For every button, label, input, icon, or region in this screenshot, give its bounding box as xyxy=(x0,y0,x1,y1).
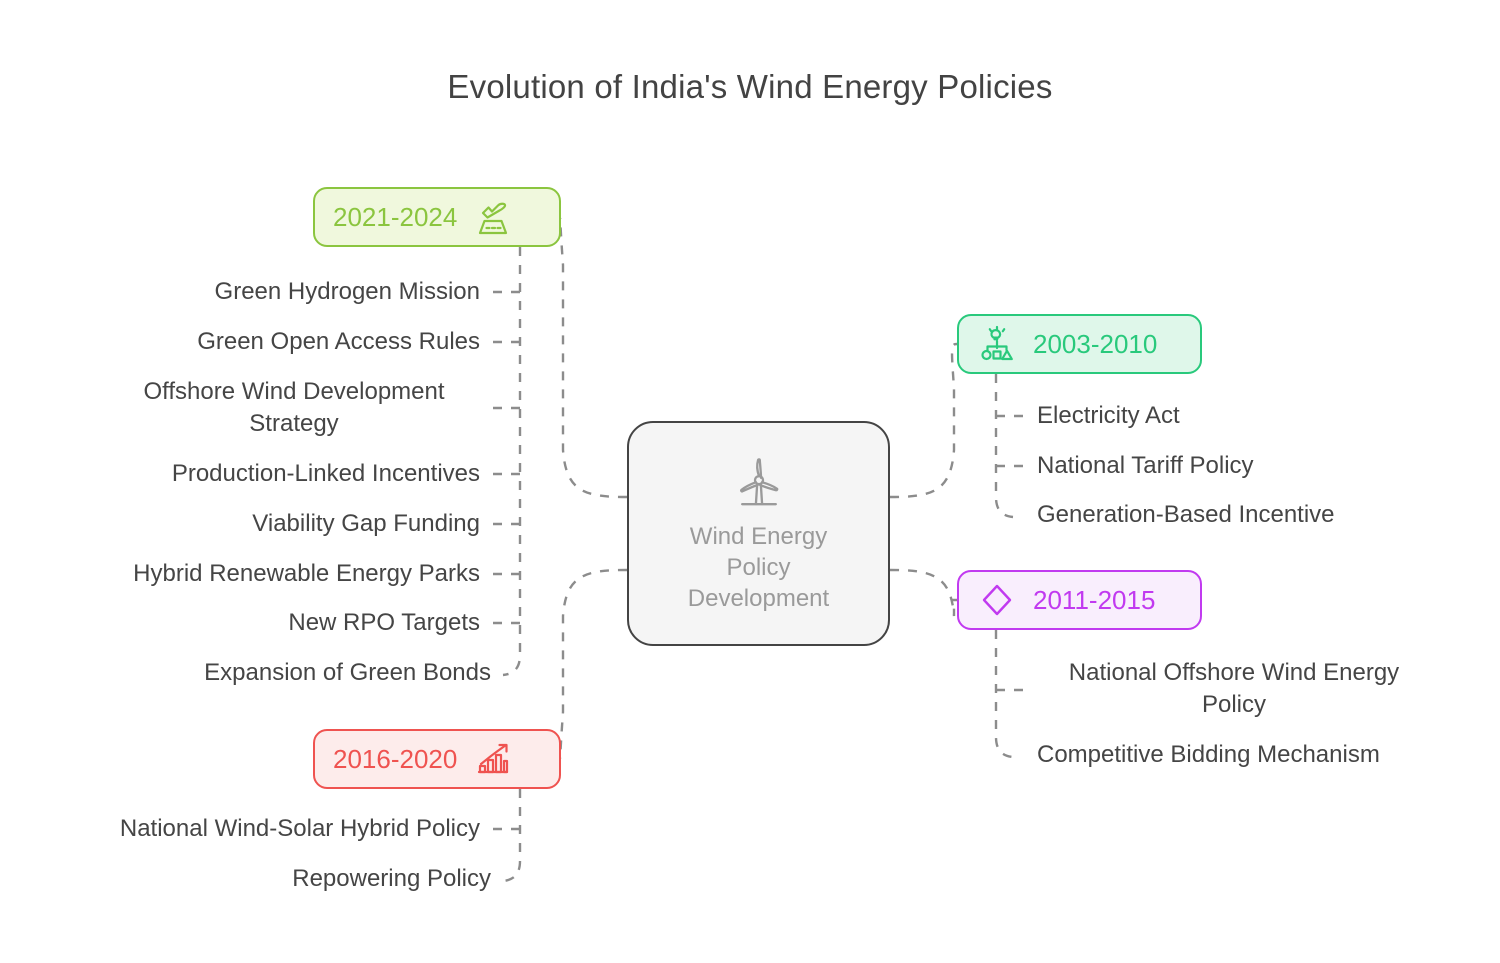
leaf-green-hydrogen-mission: Green Hydrogen Mission xyxy=(215,276,480,308)
leaf-new-rpo-targets: New RPO Targets xyxy=(288,607,480,639)
wind-turbine-icon xyxy=(728,453,790,515)
leaf-viability-gap-funding: Viability Gap Funding xyxy=(252,508,480,540)
page-title: Evolution of India's Wind Energy Policie… xyxy=(0,68,1500,106)
leaf-electricity-act: Electricity Act xyxy=(1037,400,1180,432)
leaf-expansion-of-green-bonds: Expansion of Green Bonds xyxy=(204,657,491,689)
branch-node-2016-2020[interactable]: 2016-2020 xyxy=(313,729,561,789)
branch-label-2021-2024: 2021-2024 xyxy=(333,202,457,233)
leaf-green-open-access-rules: Green Open Access Rules xyxy=(197,326,480,358)
leaf-production-linked-incentives: Production-Linked Incentives xyxy=(172,458,480,490)
leaf-generation-based-incentive: Generation-Based Incentive xyxy=(1037,499,1335,531)
branch-node-2011-2015[interactable]: 2011-2015 xyxy=(957,570,1202,630)
branch-node-2021-2024[interactable]: 2021-2024 xyxy=(313,187,561,247)
leaf-competitive-bidding-mechanism: Competitive Bidding Mechanism xyxy=(1037,739,1380,771)
branch-label-2011-2015: 2011-2015 xyxy=(1033,585,1155,616)
root-node[interactable]: Wind Energy Policy Development xyxy=(627,421,890,646)
branch-label-2016-2020: 2016-2020 xyxy=(333,744,457,775)
diamond-icon xyxy=(977,580,1017,620)
launch-runway-icon xyxy=(473,197,513,237)
leaf-national-offshore-wind-energy-policy: National Offshore Wind Energy Policy xyxy=(1037,657,1431,721)
idea-shapes-icon xyxy=(977,324,1017,364)
link-root-to-2016-2020 xyxy=(560,570,627,759)
link-root-to-2011-2015 xyxy=(890,570,957,616)
branch-label-2003-2010: 2003-2010 xyxy=(1033,329,1157,360)
leaf-offshore-wind-development-strategy: Offshore Wind Development Strategy xyxy=(110,376,478,440)
leaf-national-tariff-policy: National Tariff Policy xyxy=(1037,450,1254,482)
leaf-hybrid-renewable-energy-parks: Hybrid Renewable Energy Parks xyxy=(133,558,480,590)
leaf-national-wind-solar-hybrid-policy: National Wind-Solar Hybrid Policy xyxy=(120,813,480,845)
link-trunk-2003-2010 xyxy=(996,374,1013,517)
link-root-to-2021-2024 xyxy=(560,217,627,497)
branch-node-2003-2010[interactable]: 2003-2010 xyxy=(957,314,1202,374)
link-trunk-2021-2024 xyxy=(503,247,520,675)
link-trunk-2016-2020 xyxy=(503,789,520,881)
link-trunk-2011-2015 xyxy=(996,630,1013,757)
growth-chart-icon xyxy=(473,739,513,779)
mindmap-canvas: Evolution of India's Wind Energy Policie… xyxy=(0,0,1500,963)
link-root-to-2003-2010 xyxy=(890,344,957,497)
leaf-repowering-policy: Repowering Policy xyxy=(292,863,491,895)
root-label: Wind Energy Policy Development xyxy=(659,521,859,614)
